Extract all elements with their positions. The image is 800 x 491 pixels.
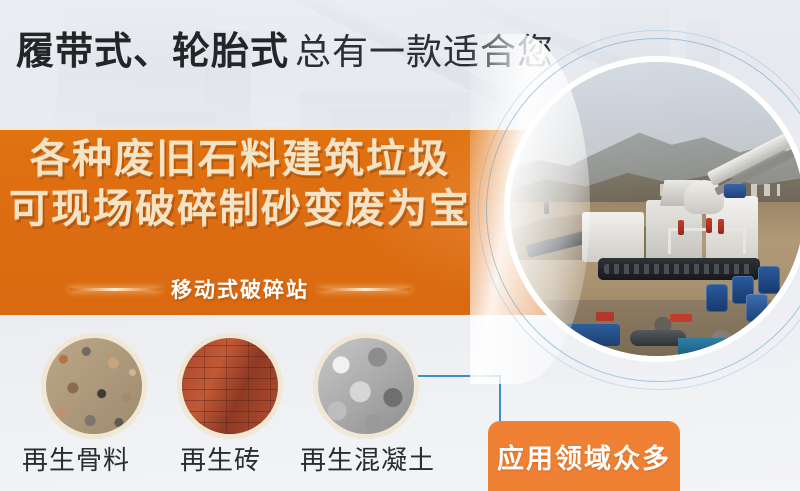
glow-line-right-icon bbox=[319, 288, 411, 291]
orange-banner: 各种废旧石料建筑垃圾 可现场破碎制砂变废为宝 移动式破碎站 bbox=[0, 127, 560, 315]
banner-line-1: 各种废旧石料建筑垃圾 bbox=[0, 138, 480, 180]
cta-label: 应用领域众多 bbox=[497, 437, 671, 476]
thumb-label-concrete: 再生混凝土 bbox=[300, 440, 435, 477]
thumb-label-brick: 再生砖 bbox=[180, 440, 261, 477]
glow-line-left-icon bbox=[69, 288, 161, 291]
cta-button[interactable]: 应用领域众多 bbox=[488, 421, 680, 491]
headline: 履带式、轮胎式总有一款适合您 bbox=[16, 32, 554, 71]
aggregate-icon[interactable] bbox=[46, 338, 142, 434]
headline-strong: 履带式、轮胎式 bbox=[16, 29, 289, 73]
concrete-icon[interactable] bbox=[318, 338, 414, 434]
thumb-label-aggregate: 再生骨料 bbox=[22, 440, 130, 477]
banner-line-2: 可现场破碎制砂变废为宝 bbox=[0, 188, 480, 230]
banner-stage: 履带式、轮胎式总有一款适合您 各种废旧石料建筑垃圾 可现场破碎制砂变废为宝 移动… bbox=[0, 0, 800, 491]
hero-photo-circle bbox=[510, 62, 800, 356]
product-thumbnails: 再生骨料 再生砖 再生混凝土 bbox=[0, 336, 470, 486]
banner-sublabel: 移动式破碎站 bbox=[171, 274, 309, 304]
banner-lines: 各种废旧石料建筑垃圾 可现场破碎制砂变废为宝 bbox=[0, 138, 480, 231]
banner-sublabel-row: 移动式破碎站 bbox=[0, 272, 480, 306]
brick-icon[interactable] bbox=[182, 338, 278, 434]
